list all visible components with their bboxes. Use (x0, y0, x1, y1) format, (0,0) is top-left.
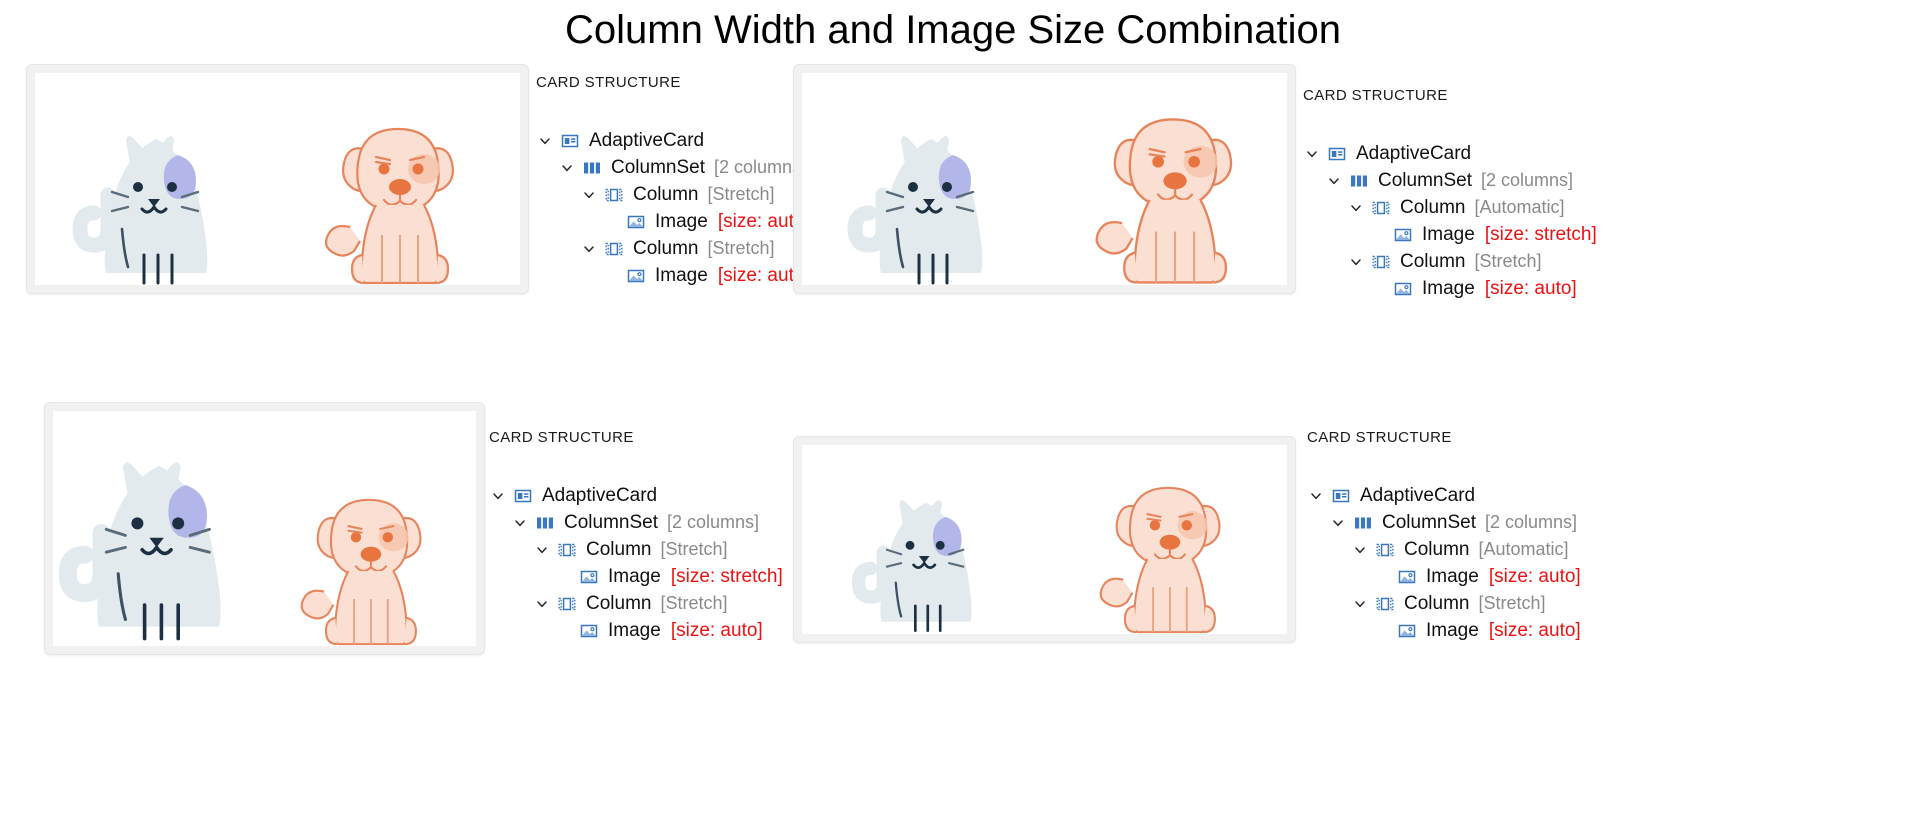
image-icon (579, 567, 599, 587)
tree-node-label: ColumnSet (1382, 512, 1476, 534)
tree-node-columnset[interactable]: ColumnSet[2 columns] (1303, 167, 1643, 194)
chevron-down-icon[interactable] (580, 186, 598, 204)
tree-node-meta: [Stretch] (707, 238, 774, 259)
tree-node-meta: [Stretch] (707, 184, 774, 205)
card-structure-heading: CARD STRUCTURE (1307, 429, 1647, 446)
chevron-down-icon[interactable] (1325, 172, 1343, 190)
column-set-icon (582, 158, 602, 178)
column-icon (557, 540, 577, 560)
panel-1 (26, 64, 529, 294)
tree-node-adaptivecard[interactable]: AdaptiveCard (1303, 140, 1643, 167)
tree-node-size-badge: [size: stretch] (671, 566, 783, 588)
card-column-right (1050, 445, 1287, 634)
tree-node-image[interactable]: Image[size: stretch] (1303, 221, 1643, 248)
tree-node-label: Image (1426, 566, 1479, 588)
image-icon (579, 621, 599, 641)
chevron-down-icon[interactable] (533, 541, 551, 559)
tree-node-meta: [2 columns] (1481, 170, 1573, 191)
tree-node-label: ColumnSet (564, 512, 658, 534)
tree-node-size-badge: [size: auto] (1489, 566, 1581, 588)
page-root: Column Width and Image Size Combination (0, 0, 1906, 834)
chevron-down-icon[interactable] (1351, 595, 1369, 613)
column-icon (1371, 198, 1391, 218)
dog-illustration (314, 95, 484, 285)
card-column-right (265, 411, 477, 646)
chevron-down-icon[interactable] (1329, 514, 1347, 532)
card-inner (53, 411, 476, 646)
image-icon (1393, 225, 1413, 245)
tree-node-label: Image (1422, 278, 1475, 300)
card-column-left (53, 411, 265, 646)
tree-node-label: AdaptiveCard (1356, 143, 1471, 165)
chevron-down-icon[interactable] (536, 132, 554, 150)
tree-node-meta: [2 columns] (667, 512, 759, 533)
tree-node-columnset[interactable]: ColumnSet[2 columns] (1307, 509, 1647, 536)
column-set-icon (1353, 513, 1373, 533)
tree-node-label: Column (1404, 539, 1469, 561)
tree-node-label: ColumnSet (1378, 170, 1472, 192)
dog-illustration (290, 468, 450, 646)
column-icon (1375, 594, 1395, 614)
tree-node-list: AdaptiveCardColumnSet[2 columns]Column[A… (1303, 140, 1643, 302)
tree-node-label: Column (1404, 593, 1469, 615)
column-set-icon (535, 513, 555, 533)
image-icon (1397, 567, 1417, 587)
column-icon (604, 239, 624, 259)
cat-illustration (846, 462, 1006, 634)
tree-node-list: AdaptiveCardColumnSet[2 columns]Column[S… (489, 482, 829, 644)
card-column-right (1060, 73, 1287, 285)
tree-node-column[interactable]: Column[Stretch] (1307, 590, 1647, 617)
card-inner (802, 73, 1287, 285)
tree-node-image[interactable]: Image[size: stretch] (489, 563, 829, 590)
tree-node-column[interactable]: Column[Automatic] (1307, 536, 1647, 563)
tree-node-column[interactable]: Column[Stretch] (489, 590, 829, 617)
tree-node-columnset[interactable]: ColumnSet[2 columns] (489, 509, 829, 536)
tree-node-label: Column (633, 184, 698, 206)
tree-node-image[interactable]: Image[size: auto] (1307, 563, 1647, 590)
tree-node-size-badge: [size: auto] (1489, 620, 1581, 642)
tree-node-label: AdaptiveCard (589, 130, 704, 152)
chevron-down-icon[interactable] (1347, 253, 1365, 271)
image-icon (1393, 279, 1413, 299)
card-inner (35, 73, 520, 285)
tree-node-label: Image (1426, 620, 1479, 642)
tree-node-label: Column (1400, 251, 1465, 273)
adaptive-card-preview (793, 436, 1296, 643)
adaptive-card-preview (793, 64, 1296, 294)
panel-2 (793, 64, 1296, 294)
adaptive-card-preview (44, 402, 485, 655)
tree-node-label: Image (655, 265, 708, 287)
chevron-down-icon[interactable] (1351, 541, 1369, 559)
tree-node-meta: [Stretch] (660, 593, 727, 614)
adaptive-card-icon (513, 486, 533, 506)
card-column-right (278, 73, 521, 285)
tree-node-label: Column (633, 238, 698, 260)
tree-node-image[interactable]: Image[size: auto] (489, 617, 829, 644)
tree-node-label: Column (1400, 197, 1465, 219)
column-set-icon (1349, 171, 1369, 191)
tree-node-list: AdaptiveCardColumnSet[2 columns]Column[A… (1307, 482, 1647, 644)
image-icon (1397, 621, 1417, 641)
image-icon (626, 212, 646, 232)
chevron-down-icon[interactable] (1347, 199, 1365, 217)
tree-node-meta: [Stretch] (660, 539, 727, 560)
card-structure-heading: CARD STRUCTURE (1303, 87, 1643, 104)
tree-node-column[interactable]: Column[Stretch] (1303, 248, 1643, 275)
chevron-down-icon[interactable] (580, 240, 598, 258)
column-icon (604, 185, 624, 205)
chevron-down-icon[interactable] (1307, 487, 1325, 505)
tree-node-label: Image (1422, 224, 1475, 246)
tree-node-label: Image (608, 620, 661, 642)
image-icon (626, 266, 646, 286)
dog-illustration (1089, 456, 1249, 634)
page-title: Column Width and Image Size Combination (0, 8, 1906, 53)
tree-node-label: ColumnSet (611, 157, 705, 179)
adaptive-card-icon (560, 131, 580, 151)
tree-node-meta: [Automatic] (1474, 197, 1564, 218)
tree-node-meta: [2 columns] (1485, 512, 1577, 533)
tree-node-meta: [Automatic] (1478, 539, 1568, 560)
tree-node-label: Column (586, 539, 651, 561)
panel-4-tree: CARD STRUCTURE AdaptiveCardColumnSet[2 c… (1307, 429, 1647, 644)
cat-illustration (53, 411, 265, 646)
cat-illustration (841, 95, 1021, 285)
cat-illustration (66, 95, 246, 285)
chevron-down-icon[interactable] (558, 159, 576, 177)
chevron-down-icon[interactable] (511, 514, 529, 532)
tree-node-size-badge: [size: auto] (1485, 278, 1577, 300)
tree-node-meta: [Stretch] (1478, 593, 1545, 614)
tree-node-size-badge: [size: stretch] (1485, 224, 1597, 246)
card-column-left (802, 73, 1060, 285)
dog-illustration (1084, 83, 1264, 285)
column-icon (1375, 540, 1395, 560)
tree-node-label: AdaptiveCard (542, 485, 657, 507)
tree-node-size-badge: [size: auto] (671, 620, 763, 642)
panel-2-tree: CARD STRUCTURE AdaptiveCardColumnSet[2 c… (1303, 87, 1643, 302)
card-inner (802, 445, 1287, 634)
column-icon (1371, 252, 1391, 272)
column-icon (557, 594, 577, 614)
tree-node-column[interactable]: Column[Automatic] (1303, 194, 1643, 221)
card-column-left (35, 73, 278, 285)
chevron-down-icon[interactable] (533, 595, 551, 613)
card-structure-heading: CARD STRUCTURE (489, 429, 829, 446)
tree-node-adaptivecard[interactable]: AdaptiveCard (1307, 482, 1647, 509)
tree-node-label: Image (608, 566, 661, 588)
tree-node-column[interactable]: Column[Stretch] (489, 536, 829, 563)
chevron-down-icon[interactable] (489, 487, 507, 505)
tree-node-label: AdaptiveCard (1360, 485, 1475, 507)
panel-3 (44, 402, 485, 655)
panel-4 (793, 436, 1296, 643)
tree-node-adaptivecard[interactable]: AdaptiveCard (489, 482, 829, 509)
chevron-down-icon[interactable] (1303, 145, 1321, 163)
adaptive-card-preview (26, 64, 529, 294)
card-column-left (802, 445, 1050, 634)
tree-node-meta: [Stretch] (1474, 251, 1541, 272)
panel-3-tree: CARD STRUCTURE AdaptiveCardColumnSet[2 c… (489, 429, 829, 644)
adaptive-card-icon (1331, 486, 1351, 506)
tree-node-label: Image (655, 211, 708, 233)
adaptive-card-icon (1327, 144, 1347, 164)
tree-node-image[interactable]: Image[size: auto] (1307, 617, 1647, 644)
tree-node-label: Column (586, 593, 651, 615)
tree-node-image[interactable]: Image[size: auto] (1303, 275, 1643, 302)
